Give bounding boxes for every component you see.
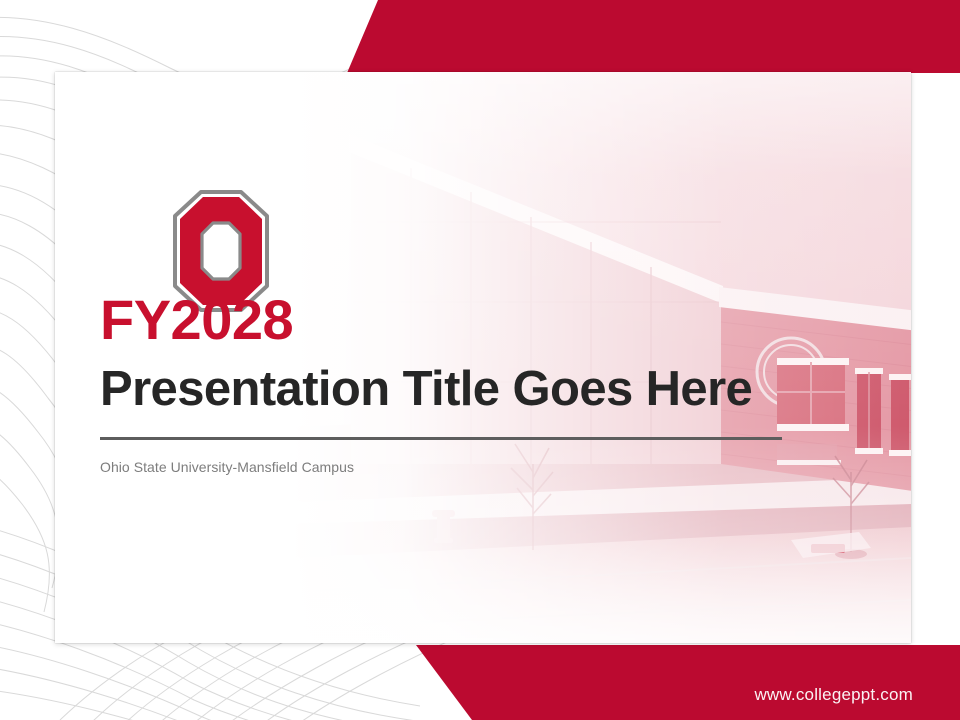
title-block: FY2028 Presentation Title Goes Here Ohio… [100, 292, 860, 475]
bottom-red-band [0, 643, 960, 720]
site-watermark: www.collegeppt.com [754, 685, 913, 705]
title-divider [100, 437, 782, 440]
fiscal-year-eyebrow: FY2028 [100, 292, 860, 348]
slide-content-card: FY2028 Presentation Title Goes Here Ohio… [55, 72, 911, 643]
presentation-slide: FY2028 Presentation Title Goes Here Ohio… [0, 0, 960, 720]
institution-subtitle: Ohio State University-Mansfield Campus [100, 459, 860, 475]
top-red-band [0, 0, 960, 74]
page-title: Presentation Title Goes Here [100, 364, 860, 415]
